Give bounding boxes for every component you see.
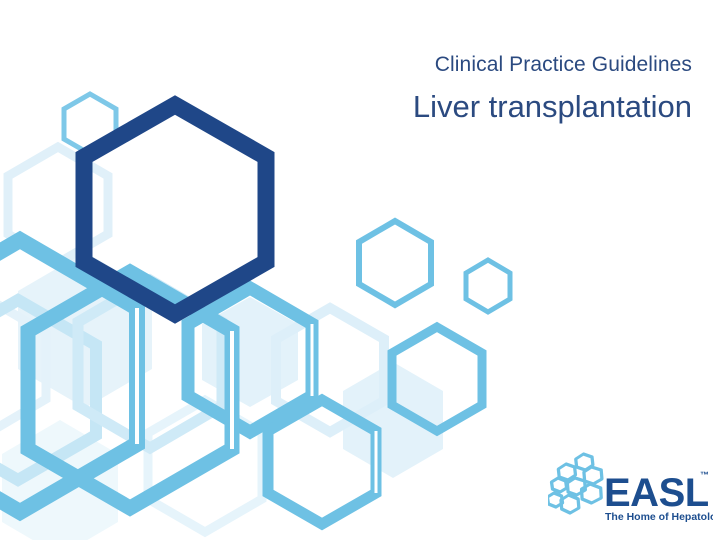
hexagon-pale-fill-right [343, 362, 443, 478]
easl-wordmark: EASL [604, 471, 709, 515]
easl-logo: EASL ™ The Home of Hepatology [548, 450, 713, 528]
easl-tagline: The Home of Hepatology [605, 511, 713, 523]
hexagon-faint-right-mid [276, 308, 384, 432]
hexagon-midblue-right-low [392, 327, 482, 431]
eyebrow-text: Clinical Practice Guidelines [0, 52, 692, 78]
page-title: Liver transplantation [0, 78, 692, 126]
hexagon-faint-lower-mid [148, 400, 262, 532]
hexagon-pale-fill-lower-left [2, 420, 118, 540]
hexagon-pale-fill-mid [202, 297, 298, 407]
trademark-symbol: ™ [700, 470, 709, 480]
slide-canvas: Clinical Practice Guidelines Liver trans… [0, 0, 720, 540]
hexagon-navy-large [84, 105, 266, 314]
hexagon-pale-fill-left [18, 252, 152, 408]
hexagon-midblue-right-upper [359, 221, 431, 305]
hexagon-faint-far-left [0, 300, 46, 432]
easl-hexagon-cluster-icon [548, 454, 604, 513]
hexagon-midblue-huge-left [0, 240, 137, 512]
hexagon-faint-left [8, 147, 108, 263]
hexagon-midblue-lower-mid [268, 400, 376, 524]
hexagon-lightblue-band-midleft [78, 280, 222, 448]
hexagon-midblue-mid [188, 288, 312, 432]
hexagon-midblue-bottomleft [28, 272, 232, 508]
easl-logo-svg: EASL ™ The Home of Hepatology [548, 450, 713, 528]
hexagon-lightblue-band-left [0, 300, 96, 480]
hexagon-midblue-right-tiny [466, 260, 510, 312]
title-block: Clinical Practice Guidelines Liver trans… [0, 52, 692, 126]
